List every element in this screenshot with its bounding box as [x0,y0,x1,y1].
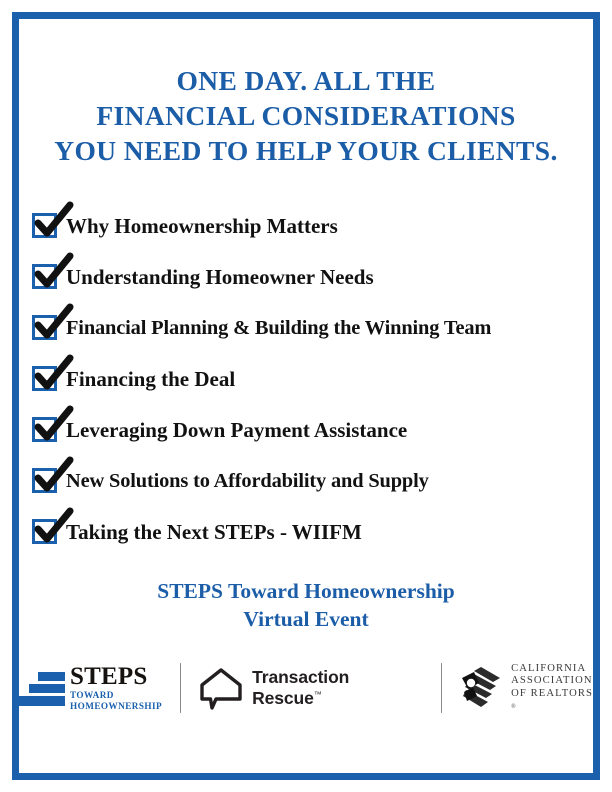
steps-logo: STEPS TOWARD HOMEOWNERSHIP [19,660,162,716]
checklist-item-label: Taking the Next STEPs - WIIFM [66,520,362,544]
checkmark-icon [32,407,74,447]
event-subtitle: STEPS Toward Homeownership Virtual Event [19,577,593,633]
flyer-page: ONE DAY. ALL THE FINANCIAL CONSIDERATION… [0,0,612,792]
checklist-item-label: Financing the Deal [66,367,235,391]
registered-icon: ® [511,701,593,714]
checklist-item[interactable]: Financing the Deal [32,353,593,404]
footer-logo-row: STEPS TOWARD HOMEOWNERSHIP Transaction R… [19,653,593,723]
car-logo-line-2: ASSOCIATION [511,675,593,688]
checkbox-checked[interactable] [32,264,57,289]
checkmark-icon [32,458,74,498]
checkbox-checked[interactable] [32,519,57,544]
checkbox-checked[interactable] [32,417,57,442]
car-logo-text: CALIFORNIA ASSOCIATION OF REALTORS® [511,663,593,713]
steps-logo-title: STEPS [70,665,162,689]
checkmark-icon [32,305,74,345]
checkmark-icon [32,254,74,294]
california-association-of-realtors-mark-icon [460,666,502,710]
house-speech-bubble-icon [199,666,243,710]
checklist-item[interactable]: New Solutions to Affordability and Suppl… [32,455,593,506]
checklist-item-label: Financial Planning & Building the Winnin… [66,316,491,340]
car-logo-line-3: OF REALTORS [511,688,593,701]
trademark-icon: ™ [314,690,322,699]
transaction-rescue-name: Transaction Rescue™ [252,667,423,709]
logo-divider [180,663,181,713]
checklist-item-label: New Solutions to Affordability and Suppl… [66,469,429,493]
checklist-item[interactable]: Leveraging Down Payment Assistance [32,404,593,455]
checklist-item-label: Leveraging Down Payment Assistance [66,418,407,442]
logo-divider [441,663,442,713]
headline-line-3: YOU NEED TO HELP YOUR CLIENTS. [19,133,593,168]
checklist-item[interactable]: Taking the Next STEPs - WIIFM [32,506,593,557]
flyer-content: ONE DAY. ALL THE FINANCIAL CONSIDERATION… [19,19,593,773]
checkbox-checked[interactable] [32,468,57,493]
checklist-item-label: Why Homeownership Matters [66,214,338,238]
checkbox-checked[interactable] [32,315,57,340]
checkbox-checked[interactable] [32,213,57,238]
checkmark-icon [32,203,74,243]
transaction-rescue-wordmark: Transaction Rescue [252,667,349,708]
car-logo: CALIFORNIA ASSOCIATION OF REALTORS® [460,660,593,716]
checkbox-checked[interactable] [32,366,57,391]
checkmark-icon [32,356,74,396]
car-logo-line-1: CALIFORNIA [511,663,593,676]
transaction-rescue-logo: Transaction Rescue™ [199,660,423,716]
steps-stairs-icon [19,668,65,708]
checklist: Why Homeownership Matters Understanding … [32,200,593,557]
car-logo-line-3-wrap: OF REALTORS® [511,688,593,713]
checklist-item[interactable]: Financial Planning & Building the Winnin… [32,302,593,353]
checkmark-icon [32,509,74,549]
headline-line-2: FINANCIAL CONSIDERATIONS [19,98,593,133]
steps-logo-sub-line-2: HOMEOWNERSHIP [70,701,162,712]
checklist-item[interactable]: Understanding Homeowner Needs [32,251,593,302]
checklist-item-label: Understanding Homeowner Needs [66,265,374,289]
checklist-item[interactable]: Why Homeownership Matters [32,200,593,251]
steps-logo-sub-line-1: TOWARD [70,690,162,701]
headline-line-1: ONE DAY. ALL THE [19,63,593,98]
event-subtitle-line-1: STEPS Toward Homeownership [19,577,593,605]
page-title: ONE DAY. ALL THE FINANCIAL CONSIDERATION… [19,63,593,168]
event-subtitle-line-2: Virtual Event [19,605,593,633]
